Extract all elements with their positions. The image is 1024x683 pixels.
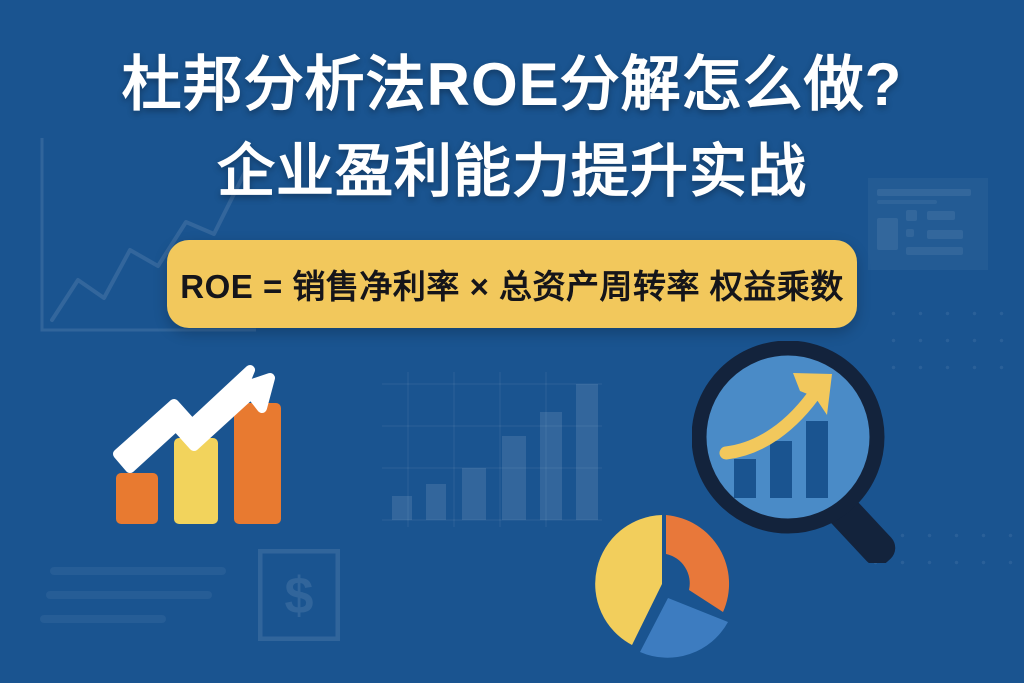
page-title-line-1: 杜邦分析法ROE分解怎么做? <box>0 49 1024 121</box>
formula-banner: ROE = 销售净利率 × 总资产周转率 权益乘数 <box>167 240 857 328</box>
pie-chart-icon <box>592 512 740 660</box>
formula-text: ROE = 销售净利率 × 总资产周转率 权益乘数 <box>180 260 843 308</box>
bar-chart-icon <box>382 372 602 527</box>
dollar-note-icon: $ <box>258 549 340 641</box>
poster-canvas: $ 杜邦分析法ROE分解怎么做? 企业盈利能力提升实战 ROE = 销售净利率 … <box>0 0 1024 683</box>
pie-slice-orange <box>666 515 729 612</box>
growth-bar-chart-icon <box>104 356 294 526</box>
pie-slice-yellow <box>595 515 662 645</box>
pie-slice-blue <box>640 598 728 658</box>
svg-text:$: $ <box>285 567 314 625</box>
page-title-line-2: 企业盈利能力提升实战 <box>0 137 1024 207</box>
text-lines-icon <box>48 567 228 629</box>
